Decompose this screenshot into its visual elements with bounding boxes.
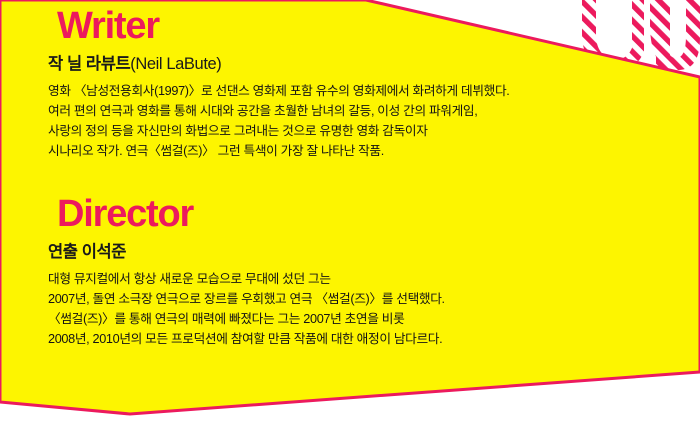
director-bio: 대형 뮤지컬에서 항상 새로운 모습으로 무대에 섰던 그는 2007년, 돌연… <box>0 264 640 349</box>
director-name: 이석준 <box>82 243 126 261</box>
writer-bio: 영화 〈남성전용회사(1997)〉로 선댄스 영화제 포함 유수의 영화제에서 … <box>0 76 640 161</box>
director-bio-line: 2007년, 돌연 소극장 연극으로 장르를 우회했고 연극 〈썸걸(즈)〉를 … <box>48 289 640 309</box>
writer-bio-line: 영화 〈남성전용회사(1997)〉로 선댄스 영화제 포함 유수의 영화제에서 … <box>48 81 640 101</box>
writer-bio-line: 사랑의 정의 등을 자신만의 화법으로 그려내는 것으로 유명한 영화 감독이자 <box>48 121 640 141</box>
director-section-title: Director <box>0 192 640 236</box>
writer-name: 닐 라뷰트 <box>67 55 130 73</box>
poster-credits-panel: Writer 작 닐 라뷰트(Neil LaBute) 영화 〈남성전용회사(1… <box>0 0 700 428</box>
director-bio-line: 대형 뮤지컬에서 항상 새로운 모습으로 무대에 섰던 그는 <box>48 269 640 289</box>
writer-bio-line: 시나리오 작가. 연극〈썸걸(즈)〉 그런 특색이 가장 잘 나타난 작품. <box>48 141 640 161</box>
writer-section: Writer 작 닐 라뷰트(Neil LaBute) 영화 〈남성전용회사(1… <box>0 4 640 161</box>
director-section: Director 연출 이석준 대형 뮤지컬에서 항상 새로운 모습으로 무대에… <box>0 192 640 349</box>
director-bio-line: 2008년, 2010년의 모든 프로덕션에 참여할 만큼 작품에 대한 애정이… <box>48 329 640 349</box>
writer-section-title: Writer <box>0 4 640 48</box>
director-bio-line: 〈썸걸(즈)〉를 통해 연극의 매력에 빠졌다는 그는 2007년 초연을 비롯 <box>48 309 640 329</box>
director-role-label: 연출 <box>48 243 78 261</box>
writer-role-label: 작 <box>48 55 63 73</box>
writer-credit: 작 닐 라뷰트(Neil LaBute) <box>0 48 640 76</box>
writer-bio-line: 여러 편의 연극과 영화를 통해 시대와 공간을 초월한 남녀의 갈등, 이성 … <box>48 101 640 121</box>
director-credit: 연출 이석준 <box>0 236 640 264</box>
writer-latin-name: (Neil LaBute) <box>130 55 221 73</box>
